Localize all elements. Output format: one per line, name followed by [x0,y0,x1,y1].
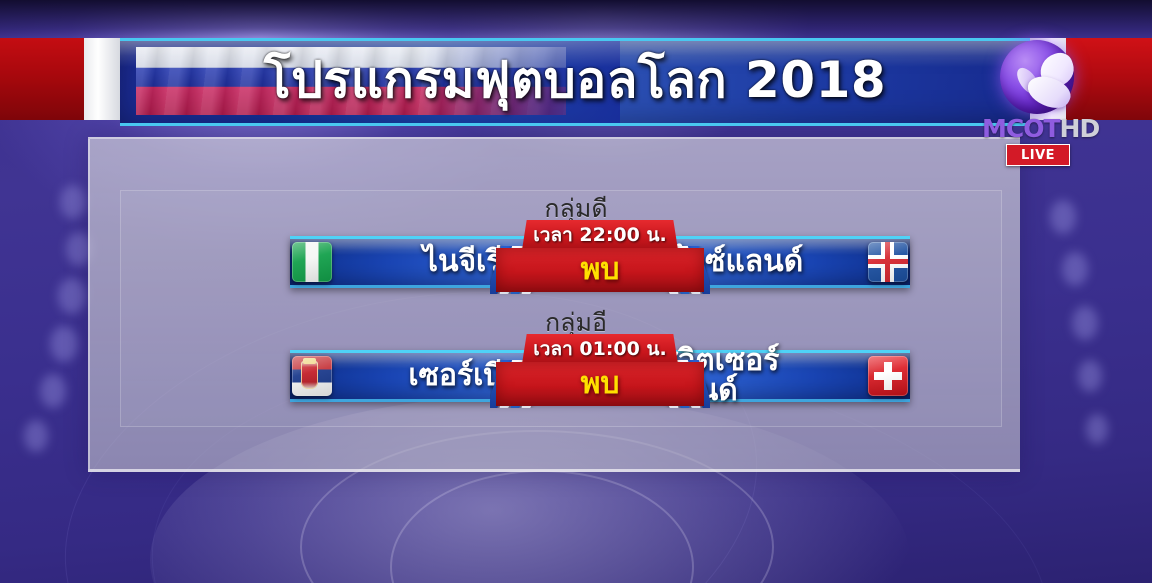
channel-logo: MCOTHD LIVE [986,36,1082,166]
page-title: โปรแกรมฟุตบอลโลก 2018 [120,41,1030,123]
title-bar: โปรแกรมฟุตบอลโลก 2018 [120,38,1030,126]
live-badge: LIVE [1006,144,1070,166]
channel-name: MCOTHD [982,116,1086,141]
flag-gloss [292,242,332,282]
title-bar-silver-cap-left [84,38,124,120]
group-label: กลุ่มอี [0,310,1152,335]
broadcast-screen: โปรแกรมฟุตบอลโลก 2018 MCOTHD LIVE กลุ่มด… [0,0,1152,583]
channel-name-secondary: HD [1060,114,1100,143]
match-time-label: เวลา 22:00 น. [522,220,678,250]
match-vs-label: พบ [496,362,704,406]
match-time-label: เวลา 01:00 น. [522,334,678,364]
switzerland-flag-icon [868,356,908,396]
light-spot [24,420,48,452]
flag-gloss [868,242,908,282]
title-bar-region: โปรแกรมฟุตบอลโลก 2018 [0,38,1152,120]
iceland-flag-icon [868,242,908,282]
title-bar-red-cap-left [0,38,88,120]
match-row: กลุ่มดี ไนจีเรีย ไอซ์แลนด์ [0,196,1152,306]
match-center-badge: เวลา 22:00 น. พบ [496,220,704,292]
group-label: กลุ่มดี [0,196,1152,221]
background-top-shade [0,0,1152,40]
nigeria-flag-icon [292,242,332,282]
flag-gloss [292,356,332,396]
flag-gloss [868,356,908,396]
serbia-flag-icon [292,356,332,396]
match-vs-label: พบ [496,248,704,292]
mcot-sphere-logo-icon [1000,40,1074,114]
channel-name-primary: MCOT [982,114,1060,143]
match-row: กลุ่มอี เซอร์เบีย สวิตเซอร์แลนด์ [0,310,1152,420]
match-center-badge: เวลา 01:00 น. พบ [496,334,704,406]
